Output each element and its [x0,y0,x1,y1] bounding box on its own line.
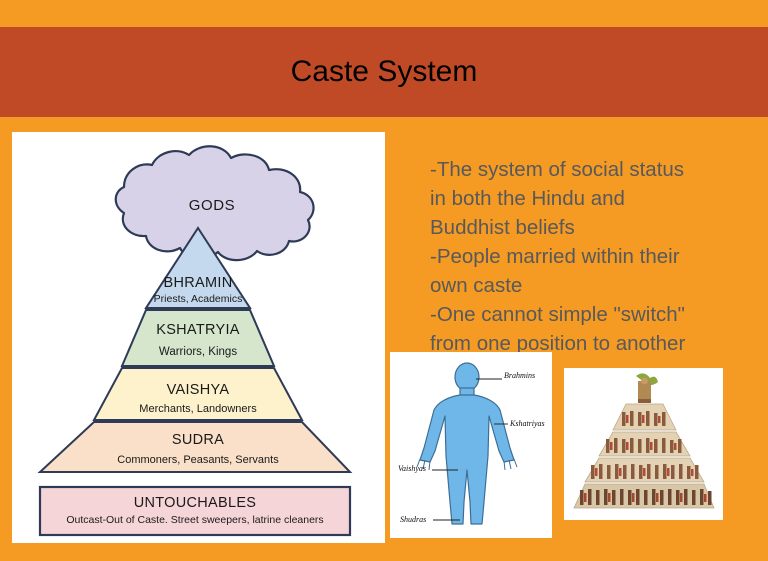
tier-name-bhramin: BHRAMIN [164,275,233,291]
slide-canvas: Caste System GODS BHRAMIN Priests, Acade… [0,0,768,561]
human-label-brahmins: Brahmins [504,371,535,380]
bullet-line-3: Buddhist beliefs [430,213,760,242]
human-label-kshatriyas: Kshatriyas [509,419,545,428]
caste-pyramid-panel: GODS BHRAMIN Priests, Academics KSHATRYI… [12,132,385,543]
page-title: Caste System [0,27,768,117]
bullet-line-5: own caste [430,271,760,300]
human-body-diagram: Brahmins Kshatriyas Vaishyas Shudras [390,352,552,538]
gods-label: GODS [189,197,236,214]
aztec-pyramid-panel [564,368,723,520]
aztec-tier-2 [599,432,690,456]
aztec-pyramid-diagram [564,368,723,520]
bullet-line-6: -One cannot simple "switch" [430,300,760,329]
tier-name-vaishya: VAISHYA [167,382,230,398]
tier-name-sudra: SUDRA [172,432,224,448]
title-band: Caste System [0,27,768,117]
bullet-text-block: -The system of social status in both the… [430,155,760,358]
bullet-line-1: -The system of social status [430,155,760,184]
human-label-shudras: Shudras [400,515,426,524]
tier-subtitle-bhramin: Priests, Academics [154,293,243,305]
bullet-line-2: in both the Hindu and [430,184,760,213]
aztec-tier-4 [574,484,714,508]
tier-name-kshatryia: KSHATRYIA [156,322,240,338]
caste-pyramid-diagram: GODS BHRAMIN Priests, Academics KSHATRYI… [12,132,385,543]
human-body-caste-panel: Brahmins Kshatriyas Vaishyas Shudras [390,352,552,538]
tier-subtitle-kshatryia: Warriors, Kings [159,346,237,358]
tier-subtitle-vaishya: Merchants, Landowners [139,403,257,415]
base-subtitle-untouchables: Outcast-Out of Caste. Street sweepers, l… [66,514,323,526]
tier-subtitle-sudra: Commoners, Peasants, Servants [117,454,279,466]
bullet-line-4: -People married within their [430,242,760,271]
base-name-untouchables: UNTOUCHABLES [134,495,257,511]
human-label-vaishyas: Vaishyas [398,464,426,473]
aztec-tier-3 [585,458,704,482]
